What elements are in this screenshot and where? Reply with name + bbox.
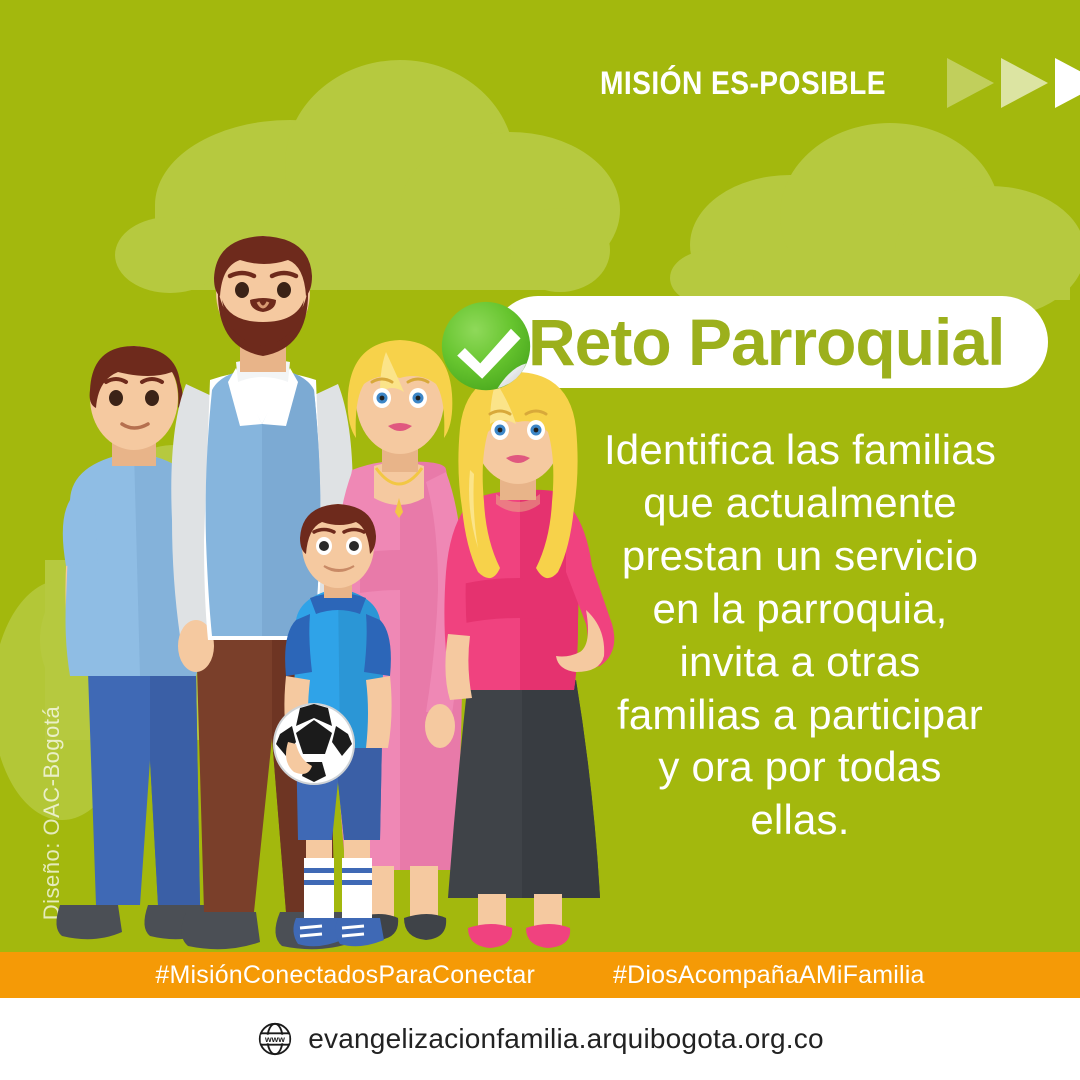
body-line-6: familias a participar xyxy=(570,689,1030,742)
page-title: Reto Parroquial xyxy=(528,309,1004,375)
body-line-4: en la parroquia, xyxy=(570,583,1030,636)
body-line-5: invita a otras xyxy=(570,636,1030,689)
brand-header: MISIÓN ES-POSIBLE xyxy=(600,58,1080,108)
website-url: evangelizacionfamilia.arquibogota.org.co xyxy=(308,1023,823,1055)
body-line-8: ellas. xyxy=(570,794,1030,847)
poster-canvas: MISIÓN ES-POSIBLE Reto Parroquial xyxy=(0,0,1080,1080)
check-sticker-icon xyxy=(438,300,534,396)
url-footer: www evangelizacionfamilia.arquibogota.or… xyxy=(0,998,1080,1080)
hashtag-bar: #MisiónConectadosParaConectar #DiosAcomp… xyxy=(0,952,1080,998)
play-triangle-solid-icon xyxy=(1055,58,1080,108)
design-credit: Diseño: OAC-Bogotá xyxy=(39,698,65,928)
hashtag-1: #MisiónConectadosParaConectar xyxy=(155,961,535,990)
hashtag-2: #DiosAcompañaAMiFamilia xyxy=(613,961,925,990)
body-line-2: que actualmente xyxy=(570,477,1030,530)
arrow-group xyxy=(947,58,1080,108)
body-line-3: prestan un servicio xyxy=(570,530,1030,583)
body-line-7: y ora por todas xyxy=(570,741,1030,794)
play-triangle-faint-icon xyxy=(947,58,994,108)
body-copy: Identifica las familias que actualmente … xyxy=(570,424,1030,847)
play-triangle-medium-icon xyxy=(1001,58,1048,108)
brand-title: MISIÓN ES-POSIBLE xyxy=(600,65,886,102)
globe-www-icon: www xyxy=(256,1020,294,1058)
title-pill: Reto Parroquial xyxy=(492,296,1048,388)
body-line-1: Identifica las familias xyxy=(570,424,1030,477)
globe-www-label: www xyxy=(264,1034,285,1044)
